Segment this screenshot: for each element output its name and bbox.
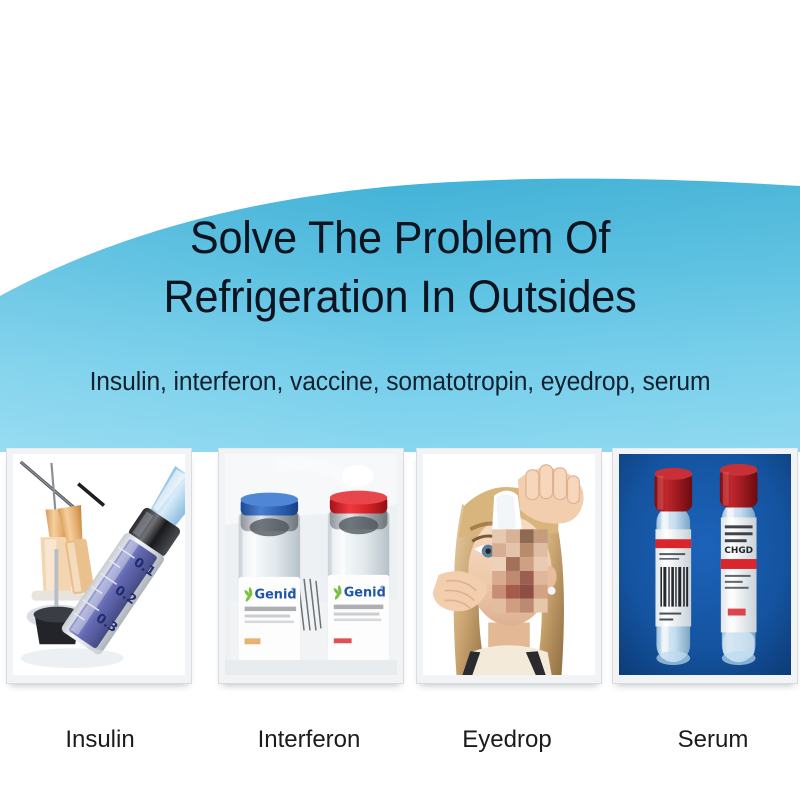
interferon-vials-photo: Genid ® — [225, 454, 397, 675]
svg-text:CHGD: CHGD — [724, 546, 753, 556]
eyedrop-woman-photo — [423, 454, 595, 675]
headline: Solve The Problem Of Refrigeration In Ou… — [16, 208, 784, 326]
mosaic-censor-block — [492, 529, 547, 612]
product-photo-strip: 0.1 0.2 0.3 — [0, 448, 800, 688]
svg-text:®: ® — [379, 585, 385, 592]
insulin-syringe-photo: 0.1 0.2 0.3 — [13, 454, 185, 675]
interferon-photo-frame: Genid ® — [225, 454, 397, 675]
product-card-interferon[interactable]: Genid ® — [218, 448, 404, 684]
eyedrop-photo-frame — [423, 454, 595, 675]
headline-line-2: Refrigeration In Outsides — [16, 267, 784, 326]
subheadline: Insulin, interferon, vaccine, somatotrop… — [14, 367, 786, 397]
caption-eyedrop: Eyedrop — [414, 726, 600, 754]
serum-photo-frame: CHGD — [619, 454, 791, 675]
product-card-insulin[interactable]: 0.1 0.2 0.3 — [6, 448, 192, 684]
headline-line-1: Solve The Problem Of — [190, 212, 610, 263]
svg-text:®: ® — [290, 587, 296, 594]
caption-insulin: Insulin — [10, 726, 190, 754]
insulin-photo-frame: 0.1 0.2 0.3 — [13, 454, 185, 675]
serum-tubes-photo: CHGD — [619, 454, 791, 675]
product-card-serum[interactable]: CHGD — [612, 448, 798, 684]
promo-banner: Solve The Problem Of Refrigeration In Ou… — [0, 0, 800, 800]
caption-serum: Serum — [620, 726, 800, 754]
caption-interferon: Interferon — [216, 726, 402, 754]
product-card-eyedrop[interactable] — [416, 448, 602, 684]
